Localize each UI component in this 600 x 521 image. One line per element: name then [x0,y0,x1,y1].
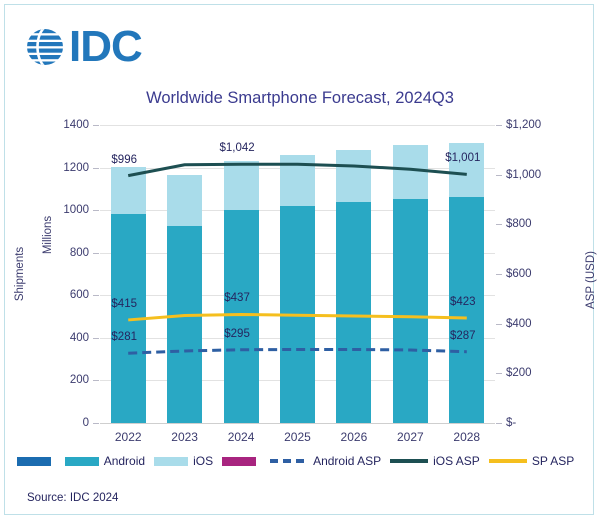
left-axis-tick [93,380,99,381]
right-axis-tick [496,274,502,275]
data-label: $281 [111,331,137,343]
data-label: $1,001 [445,152,480,164]
legend-ios-asp[interactable]: iOS ASP [390,454,480,468]
right-axis-tick [496,324,502,325]
legend-android[interactable]: Android [65,454,145,468]
left-axis-units: Millions [42,216,54,254]
legend-android-asp[interactable]: Android ASP [270,454,381,468]
legend-swatch [154,457,188,466]
legend-swatch-unlabeled-magenta[interactable] [222,457,261,466]
left-axis-tick [93,253,99,254]
data-label: $423 [450,296,476,308]
x-axis-tick-label: 2027 [397,430,424,444]
globe-icon [23,25,67,69]
x-axis-tick-label: 2022 [115,430,142,444]
right-axis-tick [496,224,502,225]
data-label: $287 [450,330,476,342]
chart-card: IDC Worldwide Smartphone Forecast, 2024Q… [4,4,594,515]
x-axis-tick-label: 2028 [453,430,480,444]
legend-swatch [17,457,51,466]
left-axis-tick-label: 1000 [29,204,89,216]
data-label: $415 [111,298,137,310]
right-axis-tick [496,423,502,424]
left-axis-tick [93,168,99,169]
right-axis-tick [496,373,502,374]
data-label: $996 [111,154,137,166]
gridline [100,423,495,424]
left-axis-tick-label: 1200 [29,162,89,174]
line-series-sp-asp [128,314,467,319]
left-axis-tick-label: 800 [29,247,89,259]
chart-plot-area: 0200400600800100012001400 $-$200$400$600… [100,125,495,423]
right-axis-tick-label: $1,000 [506,169,566,181]
idc-logo-text: IDC [69,25,142,69]
legend-swatch-unlabeled-blue[interactable] [17,457,56,466]
data-label: $1,042 [219,142,254,154]
data-label: $295 [224,328,250,340]
line-series-layer [100,125,495,423]
legend-label: iOS ASP [433,454,480,468]
x-axis-tick-label: 2025 [284,430,311,444]
left-axis-tick [93,125,99,126]
left-axis-tick [93,423,99,424]
left-axis-tick [93,295,99,296]
left-axis-tick-label: 1400 [29,119,89,131]
right-axis-tick-label: $200 [506,367,566,379]
x-axis-tick-label: 2024 [228,430,255,444]
legend-sp-asp[interactable]: SP ASP [489,454,574,468]
left-axis-tick-label: 400 [29,332,89,344]
right-axis-title: ASP (USD) [585,251,597,309]
left-axis-tick-label: 600 [29,289,89,301]
line-series-android-asp [128,349,467,353]
right-axis-tick-label: $800 [506,218,566,230]
page-title: Worldwide Smartphone Forecast, 2024Q3 [5,89,595,108]
right-axis-tick-label: $600 [506,268,566,280]
x-axis-tick-label: 2026 [341,430,368,444]
idc-logo: IDC [23,23,142,71]
data-label: $437 [224,292,250,304]
legend-swatch [222,457,256,466]
left-axis-tick [93,338,99,339]
left-axis-tick-label: 200 [29,374,89,386]
legend-label: iOS [193,454,213,468]
source-note: Source: IDC 2024 [27,492,118,504]
legend-ios[interactable]: iOS [154,454,213,468]
right-axis-tick-label: $1,200 [506,119,566,131]
left-axis-title: Shipments [14,247,26,301]
line-series-ios-asp [128,164,467,175]
right-axis-tick-label: $400 [506,318,566,330]
legend-label: SP ASP [532,454,574,468]
legend-label: Android [104,454,145,468]
right-axis-tick-label: $- [506,417,566,429]
chart-legend: AndroidiOSAndroid ASPiOS ASPSP ASP [5,454,595,468]
left-axis-tick [93,210,99,211]
x-axis-tick-label: 2023 [171,430,198,444]
legend-label: Android ASP [313,454,381,468]
legend-swatch [65,457,99,466]
right-axis-tick [496,125,502,126]
left-axis-tick-label: 0 [29,417,89,429]
right-axis-tick [496,175,502,176]
